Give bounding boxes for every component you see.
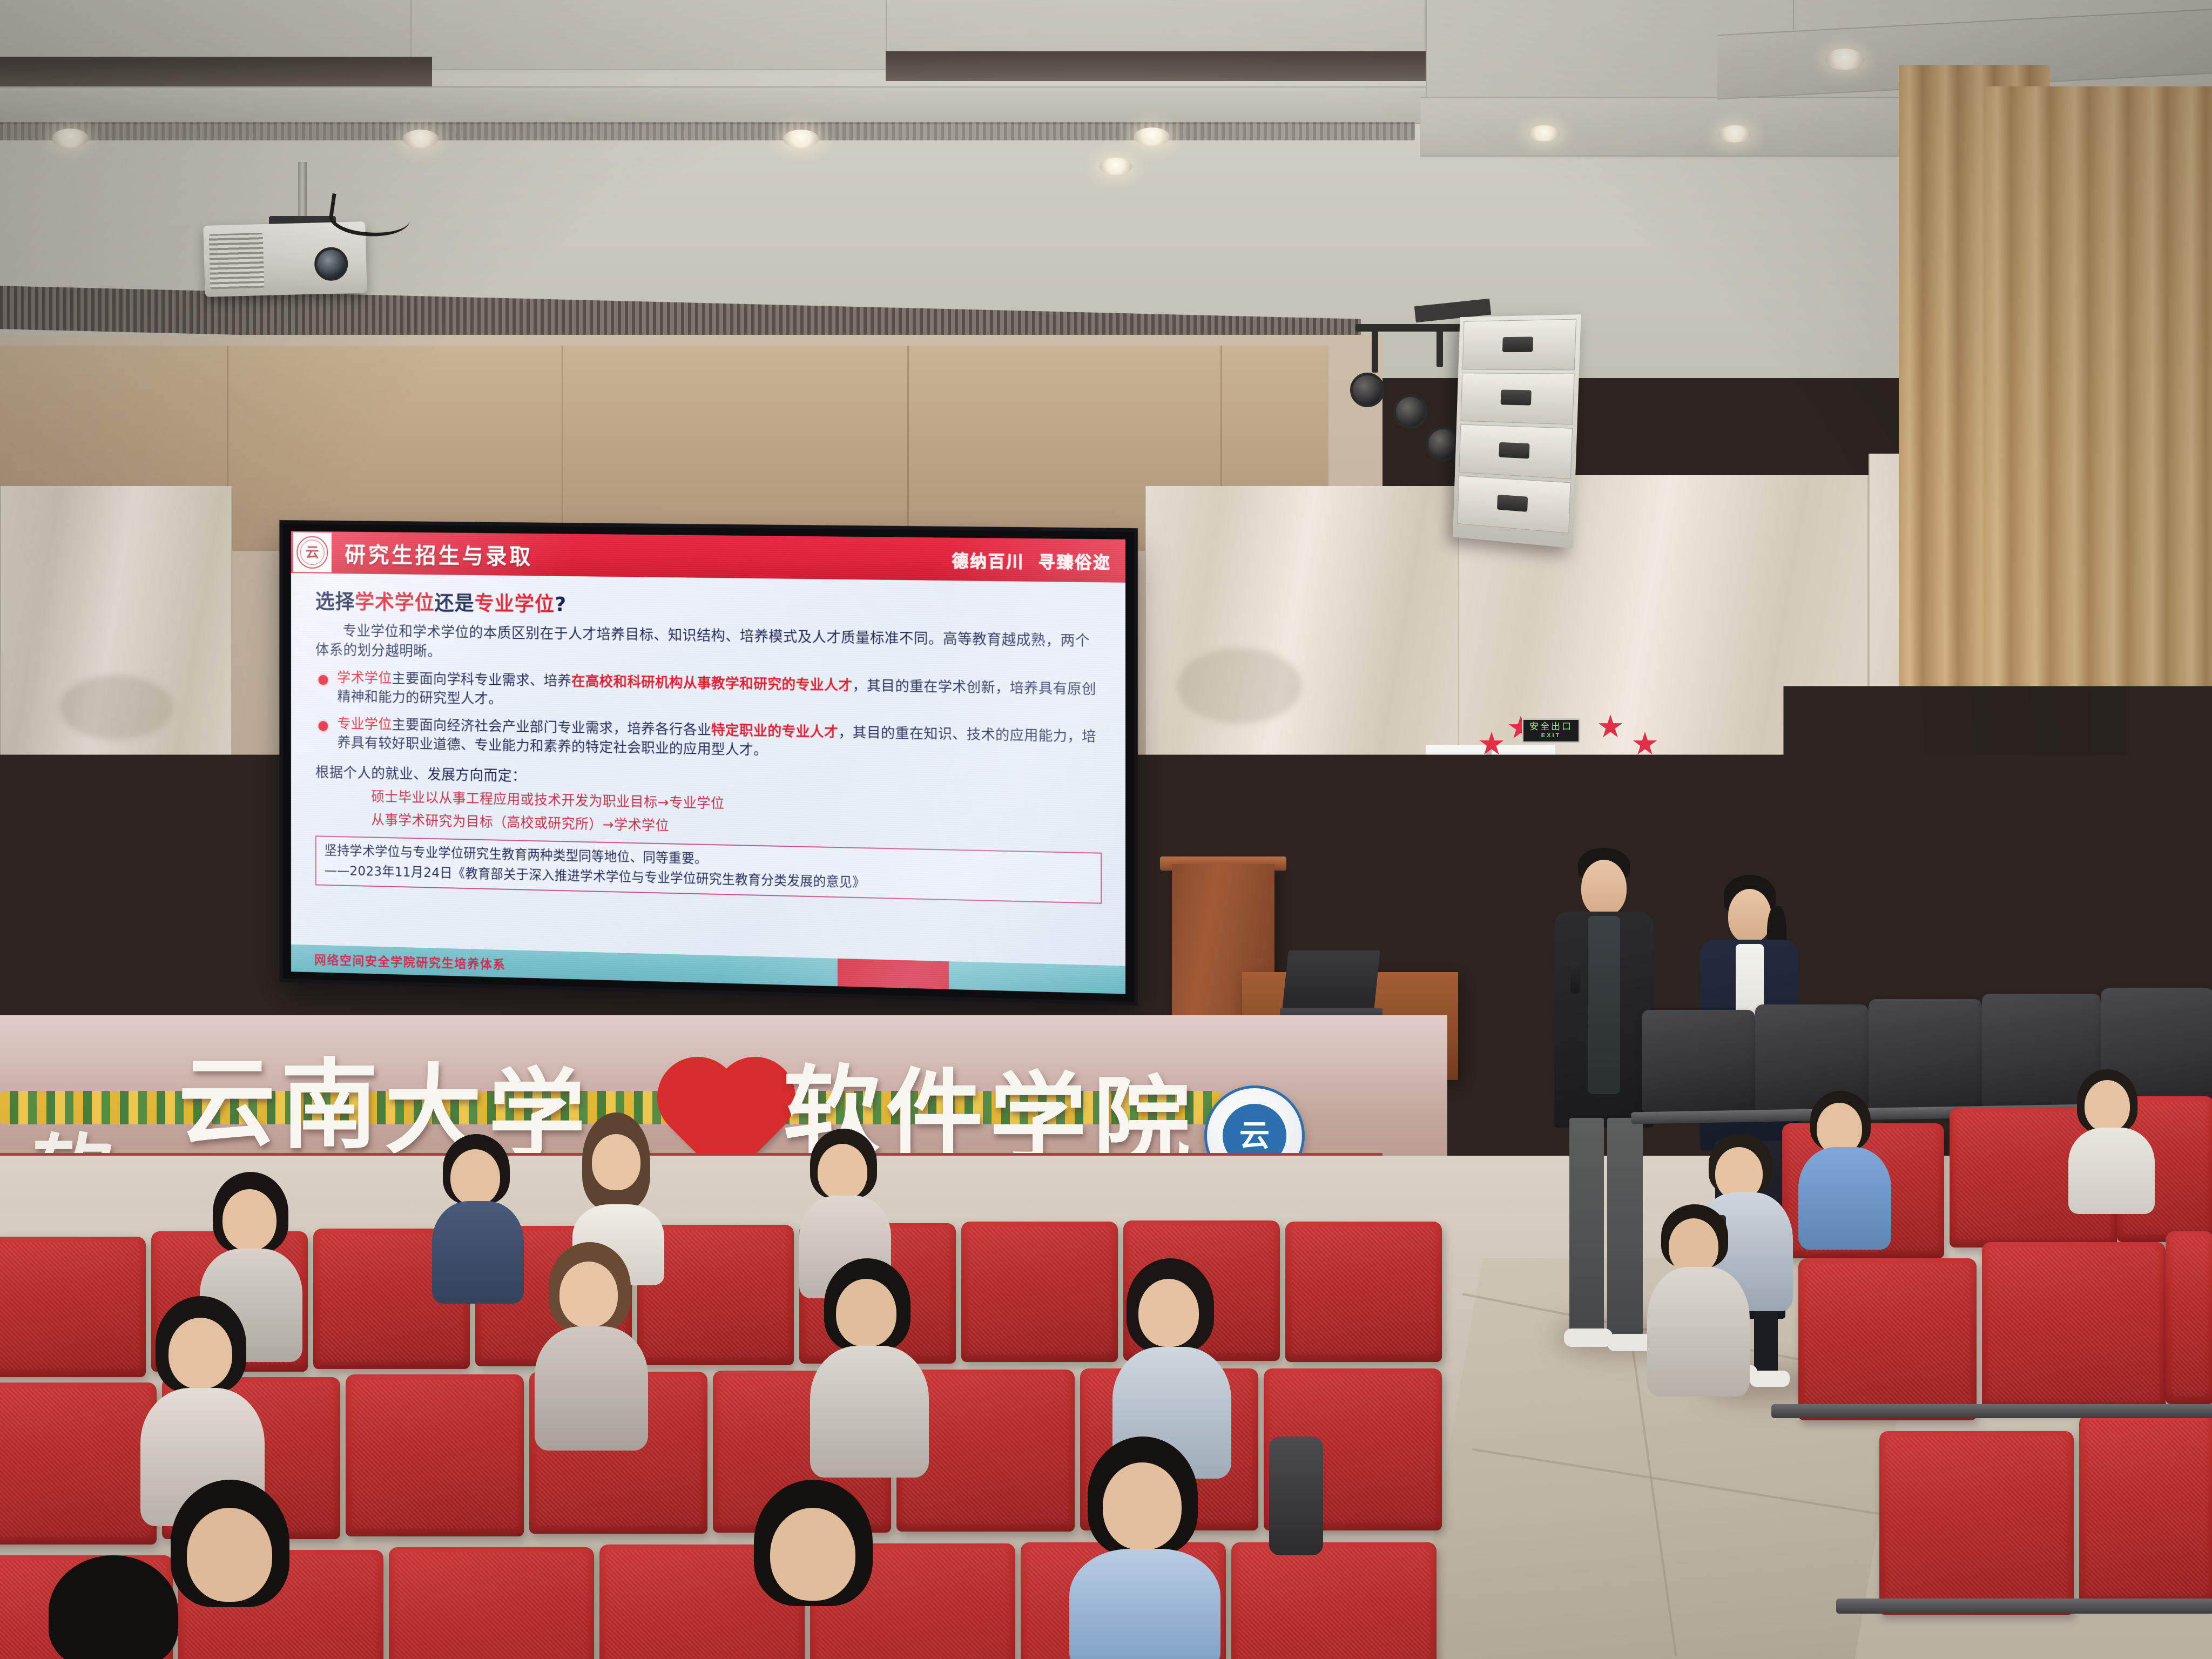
auditorium-seat[interactable] <box>1982 1242 2166 1410</box>
audience-head <box>222 1189 276 1251</box>
audience-member <box>1647 1204 1750 1399</box>
audience-member <box>2068 1069 2155 1210</box>
emergency-exit-sign: 安全出口 EXIT <box>1522 718 1580 743</box>
heading-red-term-1: 学术学位 <box>355 590 434 615</box>
audience-member <box>1069 1437 1220 1659</box>
presenter-head <box>1728 889 1771 943</box>
ceiling-downlight <box>1528 125 1560 141</box>
side-chair[interactable] <box>1642 1010 1755 1112</box>
bullet-dot-icon <box>319 721 328 731</box>
wall-picture-frame <box>1944 810 2009 923</box>
slide-heading: 选择学术学位还是专业学位? <box>315 585 1102 624</box>
projector-lens-icon <box>314 247 348 281</box>
stage-light-icon <box>1393 394 1428 429</box>
audience-head <box>1014 1156 1066 1215</box>
slide-paragraph: 专业学位和学术学位的本质区别在于人才培养目标、知识结构、培养模式及人才质量标准不… <box>315 621 1102 672</box>
audience-torso <box>535 1326 648 1451</box>
marble-vein <box>59 675 173 740</box>
line-array-speaker <box>1453 314 1581 548</box>
bullet-2-highlight: 特定职业的专业人才 <box>711 721 838 740</box>
handheld-microphone[interactable] <box>1570 962 1580 994</box>
audience-member <box>810 1258 929 1474</box>
decoration-word-2: 寻臻俗迩 <box>1038 548 1111 573</box>
audience-member <box>1798 1091 1890 1253</box>
ceiling-beam <box>0 86 1458 124</box>
truss-bar <box>1372 324 1378 373</box>
presenter-shoe <box>1750 1371 1790 1387</box>
lecture-hall-scene: ★ ★ 安全出口 EXIT ★ ★ 云 研究生招生与录取 德纳百川 寻臻俗迩 <box>0 0 2212 1659</box>
wall-seam <box>907 346 909 551</box>
audience-head <box>559 1262 618 1327</box>
plant-pot <box>1479 945 1535 992</box>
audience-torso <box>432 1201 524 1304</box>
truss-bar <box>1437 324 1443 367</box>
audience-member <box>734 1480 896 1659</box>
auditorium-seat[interactable] <box>0 1237 146 1377</box>
slide-header-decoration: 德纳百川 寻臻俗迩 <box>952 547 1111 573</box>
plant-leaf <box>1504 907 1532 927</box>
bullet-dot-icon <box>319 675 328 685</box>
presenter-trousers <box>1607 1118 1643 1339</box>
auditorium-seat[interactable] <box>2079 1415 2212 1604</box>
presenter-shoe <box>1564 1328 1613 1347</box>
slide-footer-text: 网络空间安全学院研究生培养体系 <box>314 950 506 973</box>
presenter-trousers <box>1569 1118 1604 1334</box>
audience-head <box>1138 1279 1199 1347</box>
slide-quote-box: 坚持学术学位与专业学位研究生教育两种类型同等地位、同等重要。 ——2023年11… <box>315 835 1102 904</box>
audience-head <box>1103 1462 1182 1550</box>
audience-head <box>2085 1080 2130 1132</box>
auditorium-seat[interactable] <box>1285 1222 1442 1362</box>
auditorium-seat[interactable] <box>1798 1258 1977 1420</box>
curtain-outer <box>1985 86 2212 1048</box>
marble-column-left <box>0 486 232 1091</box>
audience-head <box>450 1149 500 1205</box>
marble-vein <box>1177 648 1301 724</box>
heading-middle: 还是 <box>435 591 475 615</box>
plant-leaf <box>1483 830 1510 848</box>
audience-head <box>770 1508 855 1601</box>
plant-leaf <box>1519 879 1547 903</box>
decoration-word-1: 德纳百川 <box>952 547 1024 572</box>
audience-member <box>994 1139 1091 1312</box>
presenter-inner-shirt <box>1588 916 1620 1094</box>
audience-torso <box>994 1211 1091 1317</box>
ceiling-downlight <box>403 130 439 148</box>
auditorium-seat[interactable] <box>1879 1431 2074 1615</box>
footer-red-accent <box>838 959 949 989</box>
speaker-port <box>1497 495 1528 512</box>
audience-torso <box>2068 1128 2155 1214</box>
plant-leaf <box>1468 870 1495 888</box>
logo-glyph: 云 <box>306 545 319 559</box>
bullet-text: 学术学位主要面向学科专业需求、培养在高校和科研机构从事教学和研究的专业人才，其目… <box>337 668 1102 719</box>
laptop-screen <box>1282 950 1380 1010</box>
chair-armrest <box>1836 1599 2212 1614</box>
wall-star-decoration: ★ <box>1596 711 1624 742</box>
audience-head <box>168 1318 232 1389</box>
audience-torso <box>1798 1147 1891 1250</box>
wall-star-decoration: ★ <box>1631 728 1659 759</box>
stage-letter: 云 <box>178 1023 276 1164</box>
stage-light-icon <box>1350 373 1385 407</box>
speaker-segment <box>1457 476 1570 534</box>
plant-leaf <box>1476 896 1504 920</box>
ceiling-panel <box>410 0 896 70</box>
stage-letter: 南 <box>281 1026 379 1167</box>
bullet-2-lead: 专业学位 <box>337 716 392 733</box>
ceiling-downlight <box>783 130 819 148</box>
marble-vein <box>22 821 162 902</box>
bullet-text: 专业学位主要面向经济社会产业部门专业需求，培养各行各业特定职业的专业人才，其目的… <box>337 714 1102 767</box>
speaker-port <box>1502 337 1533 352</box>
hall-window-right <box>1852 734 1923 1015</box>
ceiling-downlight <box>1100 158 1132 175</box>
bullet-2-text-a: 主要面向经济社会产业部门专业需求，培养各行各业 <box>392 716 711 738</box>
slide-title: 研究生招生与录取 <box>345 537 533 570</box>
heading-red-term-2: 专业学位 <box>475 591 555 616</box>
ceiling-downlight <box>1718 125 1751 143</box>
slide-bullet-item: 学术学位主要面向学科专业需求、培养在高校和科研机构从事教学和研究的专业人才，其目… <box>315 668 1102 719</box>
audience-head <box>592 1134 640 1190</box>
water-bottle[interactable] <box>1269 1437 1323 1555</box>
ceiling-recess <box>886 51 1437 81</box>
logo-seal-icon: 云 <box>296 536 328 569</box>
ceiling-projector <box>203 221 367 297</box>
plant-leaf <box>1459 840 1487 863</box>
bullet-1-lead: 学术学位 <box>337 669 392 686</box>
bullet-1-highlight: 在高校和科研机构从事教学和研究的专业人才 <box>571 673 852 694</box>
marble-vein <box>1269 799 1410 864</box>
university-logo: 云 <box>293 532 332 572</box>
audience-member <box>432 1134 524 1296</box>
presenter-head <box>1581 860 1627 916</box>
exit-sign-en-label: EXIT <box>1541 733 1561 739</box>
emblem-glyph: 云 <box>1239 1121 1270 1151</box>
presenter-leg <box>1754 1307 1778 1376</box>
ceiling-recess <box>0 57 432 89</box>
ceiling-downlight <box>52 129 89 148</box>
audience-torso <box>1647 1267 1750 1397</box>
lamp-glow <box>2015 773 2047 874</box>
audience-hair <box>49 1555 178 1659</box>
ceiling-downlight <box>1134 127 1170 146</box>
speaker-port <box>1501 390 1532 406</box>
slide-bullet-item: 专业学位主要面向经济社会产业部门专业需求，培养各行各业特定职业的专业人才，其目的… <box>315 714 1102 767</box>
ceiling-downlight <box>1825 49 1864 70</box>
chair-armrest <box>1771 1404 2212 1418</box>
ceiling-panel <box>886 0 1426 59</box>
potted-plant <box>1458 826 1555 967</box>
auditorium-seat[interactable] <box>2166 1231 2212 1404</box>
ceiling-slats <box>0 122 1415 140</box>
audience-head <box>836 1279 896 1347</box>
heading-suffix: ? <box>555 592 567 616</box>
slide-body: 选择学术学位还是专业学位? 专业学位和学术学位的本质区别在于人才培养目标、知识结… <box>291 573 1125 966</box>
speaker-segment <box>1461 373 1575 424</box>
auditorium-seat[interactable] <box>346 1374 524 1536</box>
audience-member <box>535 1242 648 1447</box>
speaker-segment <box>1462 319 1576 370</box>
speaker-port <box>1499 442 1529 459</box>
auditorium-seat[interactable] <box>0 1382 157 1545</box>
auditorium-seat[interactable] <box>1231 1542 1437 1659</box>
audience-torso <box>1069 1549 1220 1659</box>
plant-leaf <box>1496 867 1525 888</box>
audience-member <box>32 1555 205 1659</box>
bullet-1-text-a: 主要面向学科专业需求、培养 <box>392 670 571 689</box>
wall-sconce-lamp <box>2009 767 2053 880</box>
projection-screen: 云 研究生招生与录取 德纳百川 寻臻俗迩 选择学术学位还是专业学位? 专业学位和… <box>283 524 1134 1002</box>
ceiling-panel <box>0 0 421 59</box>
wall-seam <box>562 346 563 551</box>
heading-prefix: 选择 <box>315 590 355 613</box>
projector-vent <box>209 233 265 289</box>
auditorium-seat[interactable] <box>389 1547 594 1659</box>
wall-star-decoration: ★ <box>1478 728 1506 759</box>
plant-leaf <box>1508 839 1536 865</box>
audience-torso <box>810 1346 929 1478</box>
exit-sign-cn-label: 安全出口 <box>1529 723 1573 732</box>
audience-head <box>1669 1218 1718 1274</box>
speaker-segment <box>1459 424 1573 480</box>
presentation-slide: 云 研究生招生与录取 德纳百川 寻臻俗迩 选择学术学位还是专业学位? 专业学位和… <box>291 531 1125 994</box>
audience-head <box>818 1144 867 1200</box>
